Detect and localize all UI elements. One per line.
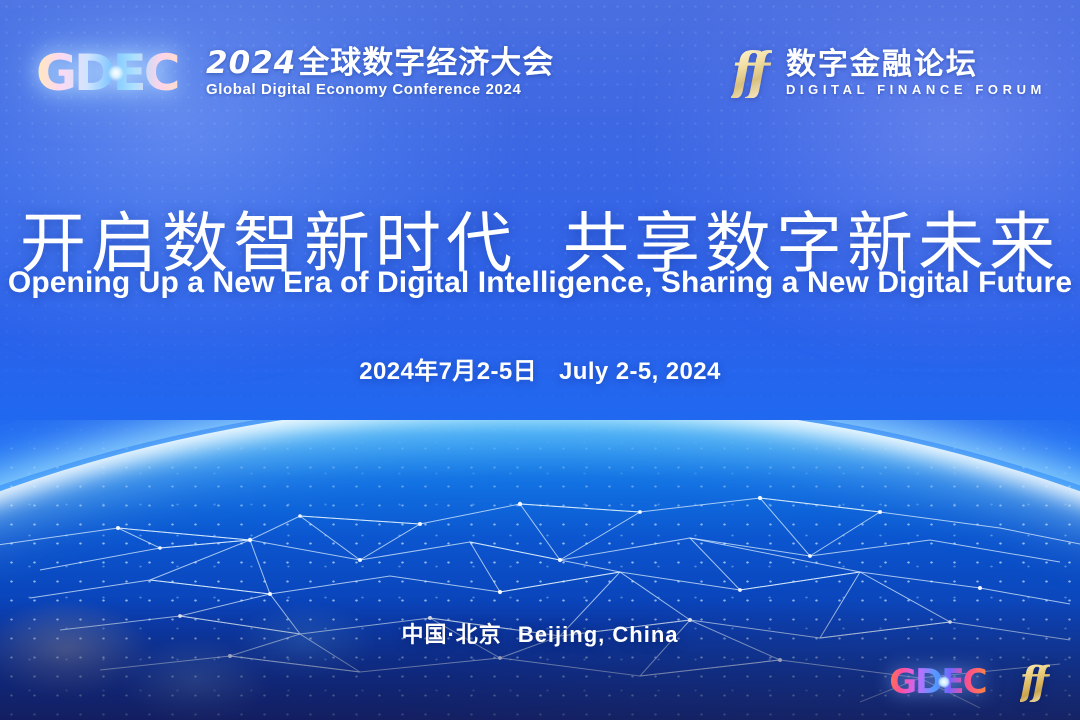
dff-logo-text: 数字金融论坛 DIGITAL FINANCE FORUM bbox=[786, 49, 1046, 98]
event-location-en: Beijing, China bbox=[518, 622, 679, 647]
ff-footer-monogram-icon: ff bbox=[1020, 662, 1050, 702]
event-location: 中国·北京Beijing, China bbox=[0, 617, 1080, 649]
ff-monogram-icon: ff bbox=[731, 48, 772, 98]
gdec-spark-icon bbox=[108, 65, 124, 81]
gdec-logo-lockup: GDEC 2024全球数字经济大会 Global Digital Economy… bbox=[36, 45, 554, 101]
gdec-footer-wordmark-icon: GDEC bbox=[889, 663, 985, 701]
gdec-title-en: Global Digital Economy Conference 2024 bbox=[206, 82, 554, 99]
gdec-title-year: 2024 bbox=[206, 45, 296, 81]
gdec-title-cn-text: 全球数字经济大会 bbox=[298, 45, 554, 80]
digital-finance-forum-logo-lockup: ff 数字金融论坛 DIGITAL FINANCE FORUM bbox=[731, 48, 1046, 98]
headline-en: Opening Up a New Era of Digital Intellig… bbox=[0, 266, 1080, 300]
gdec-logo-mark: GDEC bbox=[36, 45, 188, 101]
dff-title-en: DIGITAL FINANCE FORUM bbox=[786, 83, 1046, 97]
footer-logo-group: GDEC ff bbox=[889, 662, 1050, 702]
gdec-title-cn: 2024全球数字经济大会 bbox=[206, 47, 554, 80]
event-date-cn: 2024年7月2-5日 bbox=[359, 358, 537, 385]
event-location-cn: 中国·北京 bbox=[401, 622, 501, 647]
event-date-en: July 2-5, 2024 bbox=[559, 358, 721, 385]
conference-backdrop: GDEC 2024全球数字经济大会 Global Digital Economy… bbox=[0, 0, 1080, 720]
gdec-logo-text: 2024全球数字经济大会 Global Digital Economy Conf… bbox=[206, 47, 554, 98]
dff-title-cn: 数字金融论坛 bbox=[786, 49, 1046, 81]
event-date: 2024年7月2-5日July 2-5, 2024 bbox=[0, 351, 1080, 386]
